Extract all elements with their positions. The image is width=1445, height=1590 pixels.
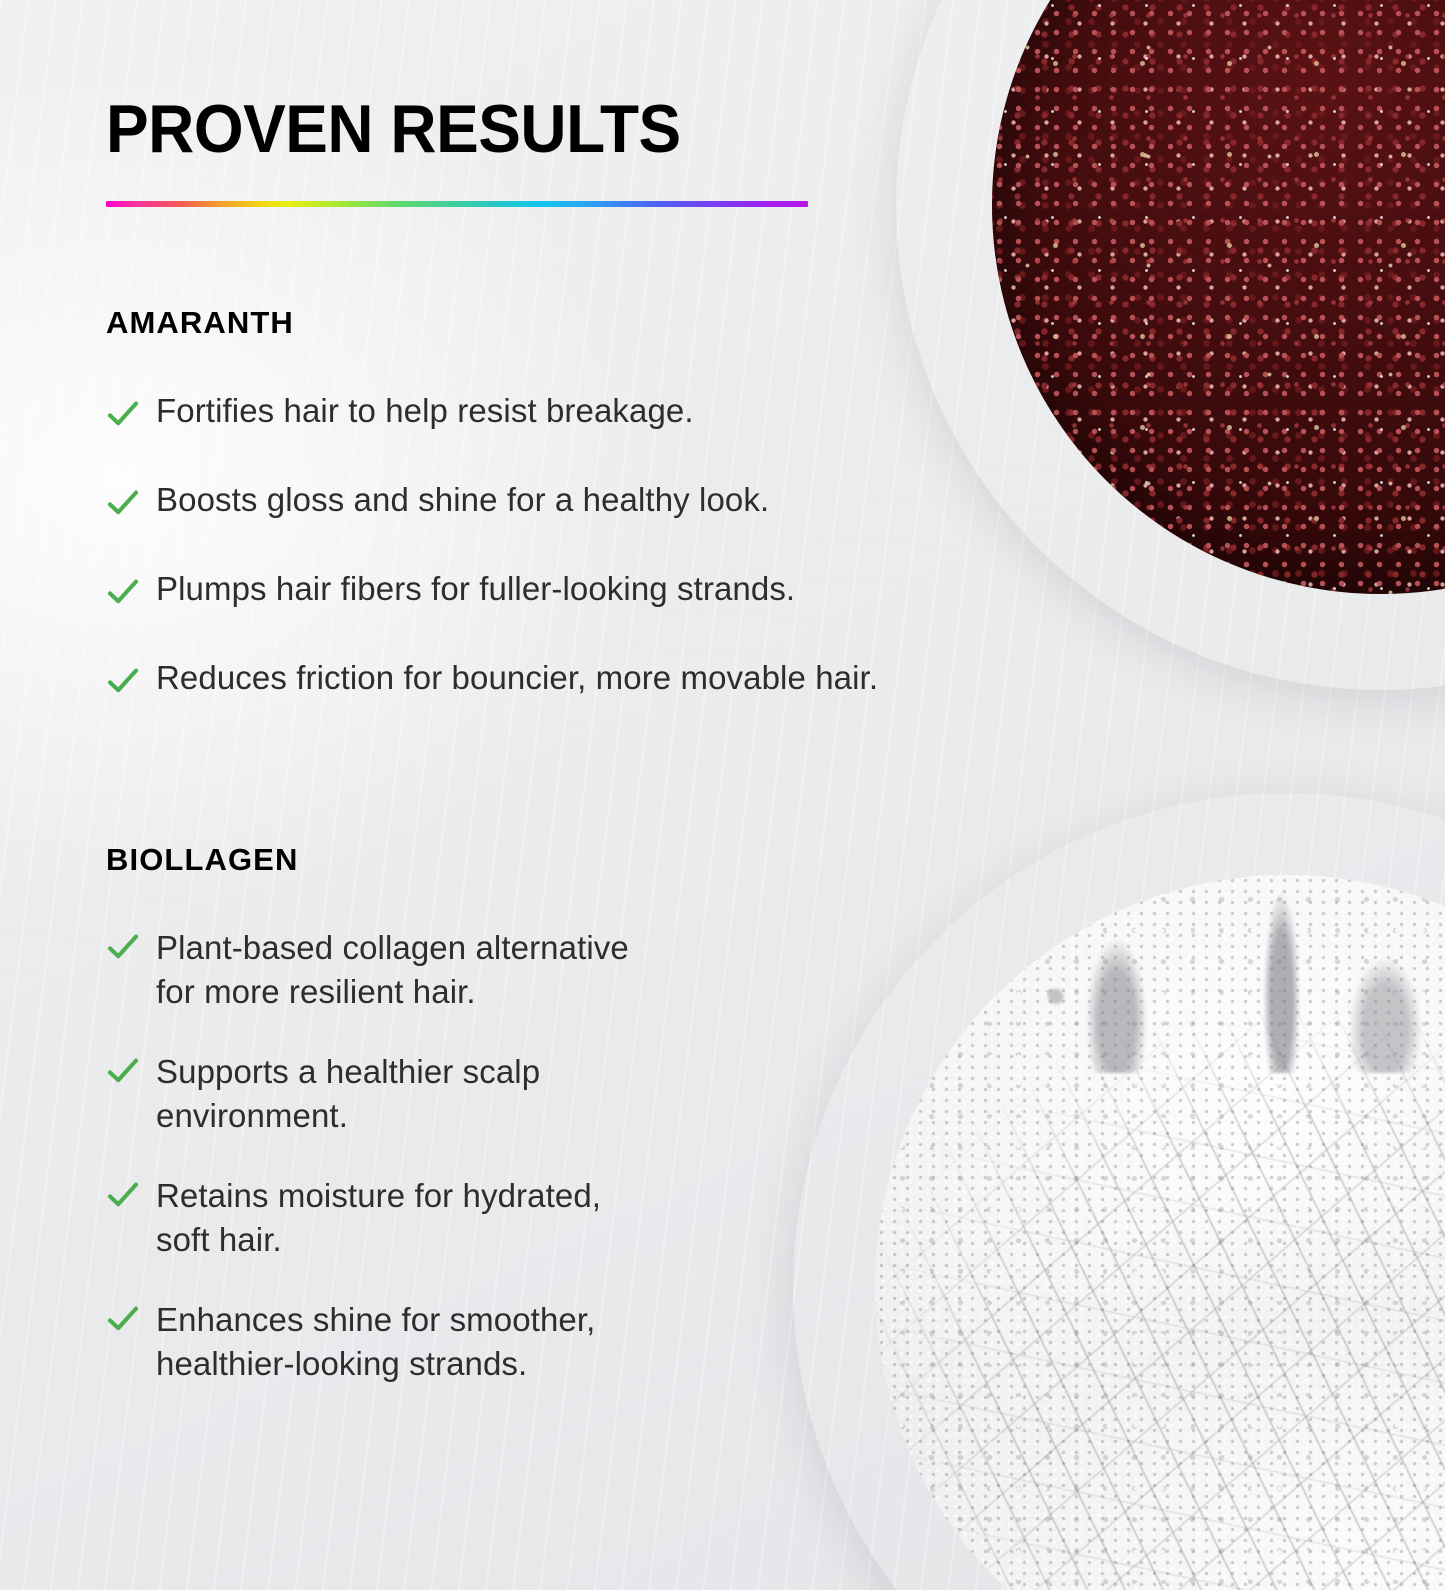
list-item: Reduces friction for bouncier, more mova… <box>106 656 896 745</box>
check-icon <box>106 397 140 431</box>
list-item: Fortifies hair to help resist breakage. <box>106 389 896 478</box>
list-item-label: Retains moisture for hydrated, soft hair… <box>156 1174 601 1262</box>
amaranth-seed-bowl-image <box>876 0 1445 710</box>
list-item: Supports a healthier scalp environment. <box>106 1050 806 1174</box>
content-column: PROVEN RESULTS AMARANTH Fortifies hair t… <box>0 0 900 1590</box>
benefit-list-biollagen: Plant-based collagen alternative for mor… <box>106 926 806 1422</box>
rainbow-divider <box>106 201 808 207</box>
list-item-label: Enhances shine for smoother, healthier-l… <box>156 1298 595 1386</box>
list-item: Plant-based collagen alternative for mor… <box>106 926 806 1050</box>
list-item: Plumps hair fibers for fuller-looking st… <box>106 567 896 656</box>
list-item-label: Boosts gloss and shine for a healthy loo… <box>156 478 769 522</box>
list-item-label: Fortifies hair to help resist breakage. <box>156 389 694 433</box>
glass-bowl-rim <box>876 0 1445 710</box>
check-icon <box>106 486 140 520</box>
check-icon <box>106 575 140 609</box>
check-icon <box>106 1302 140 1336</box>
list-item-label: Plant-based collagen alternative for mor… <box>156 926 629 1014</box>
list-item-label: Plumps hair fibers for fuller-looking st… <box>156 567 795 611</box>
section-heading-biollagen: BIOLLAGEN <box>106 842 806 878</box>
benefit-list-amaranth: Fortifies hair to help resist breakage. … <box>106 389 896 745</box>
check-icon <box>106 1054 140 1088</box>
list-item: Retains moisture for hydrated, soft hair… <box>106 1174 806 1298</box>
check-icon <box>106 664 140 698</box>
list-item: Enhances shine for smoother, healthier-l… <box>106 1298 806 1422</box>
list-item-label: Supports a healthier scalp environment. <box>156 1050 540 1138</box>
check-icon <box>106 930 140 964</box>
page-title: PROVEN RESULTS <box>106 95 681 163</box>
section-biollagen: BIOLLAGEN Plant-based collagen alternati… <box>106 842 806 1422</box>
list-item: Boosts gloss and shine for a healthy loo… <box>106 478 896 567</box>
section-heading-amaranth: AMARANTH <box>106 305 896 341</box>
list-item-label: Reduces friction for bouncier, more mova… <box>156 656 878 700</box>
section-amaranth: AMARANTH Fortifies hair to help resist b… <box>106 305 896 745</box>
proven-results-panel: PROVEN RESULTS AMARANTH Fortifies hair t… <box>0 0 1445 1590</box>
check-icon <box>106 1178 140 1212</box>
